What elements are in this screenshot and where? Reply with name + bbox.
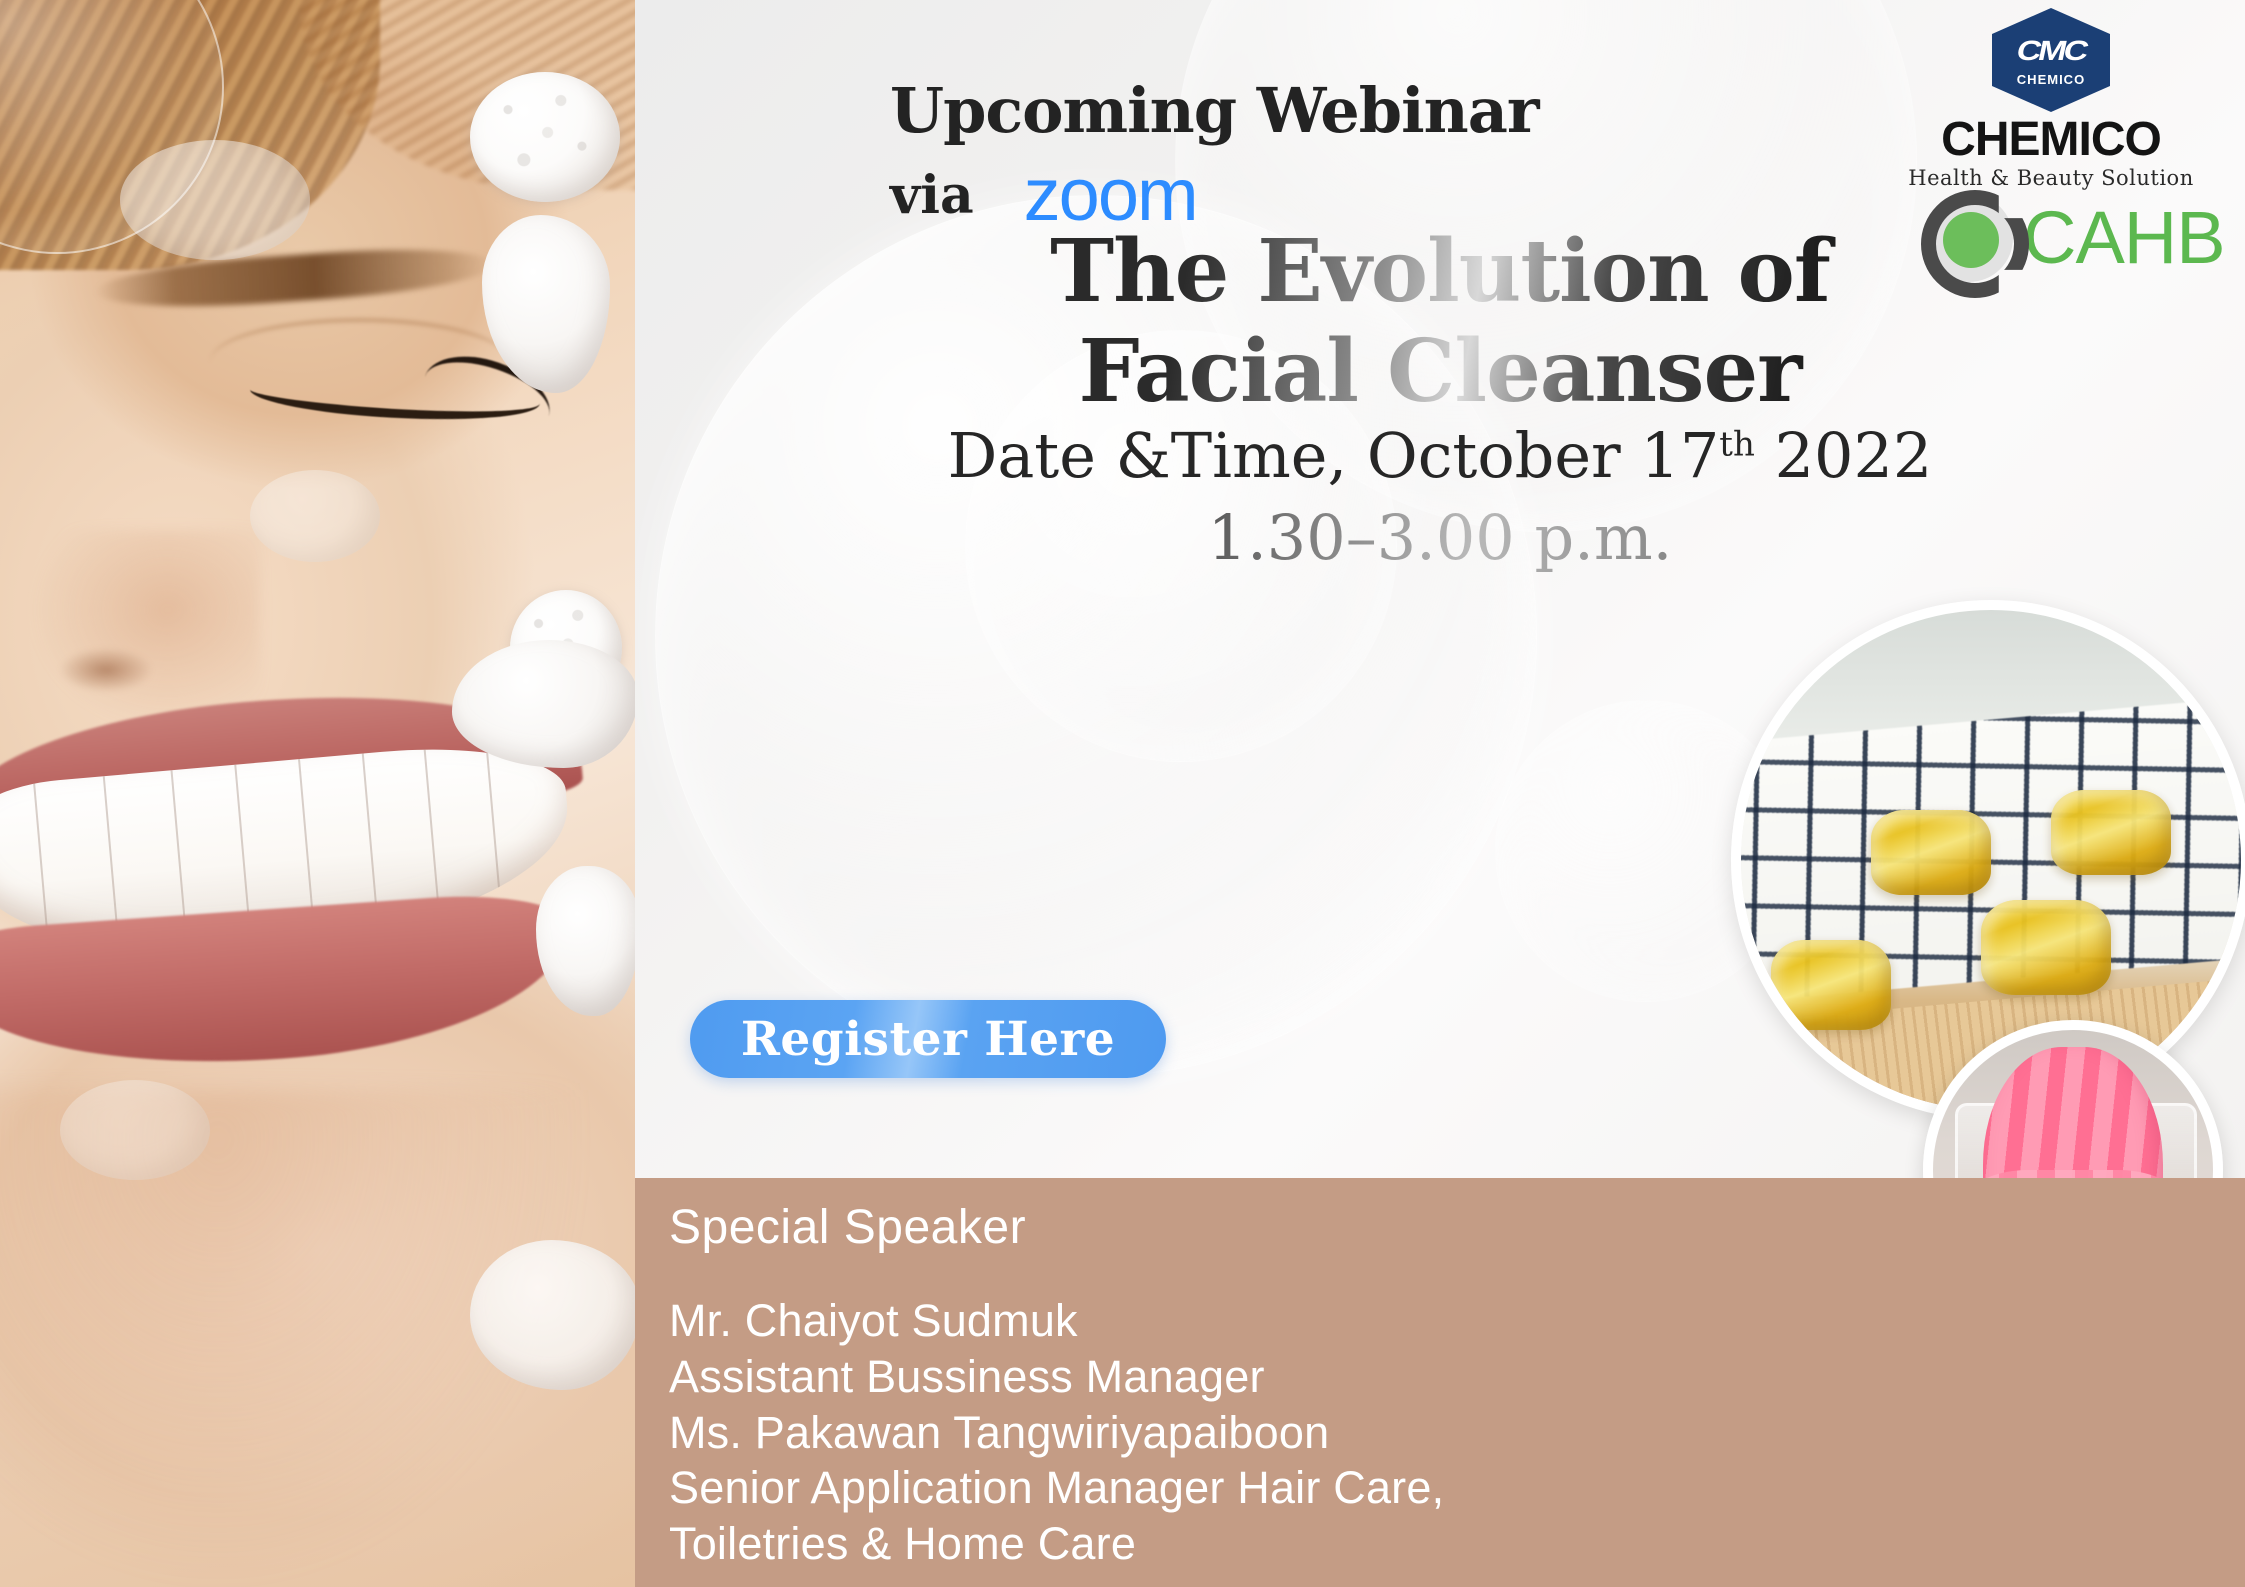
soap-bar — [1871, 810, 1991, 895]
soap-bar — [1771, 940, 1891, 1030]
chemico-hex-icon: CMC CHEMICO — [1992, 8, 2110, 112]
page-title: The Evolution of Facial Cleanser — [635, 222, 2245, 422]
date-line: Date &Time, October 17th 2022 — [635, 415, 2245, 497]
soap-bar — [1981, 900, 2111, 995]
upcoming-webinar-label: Upcoming Webinar — [890, 78, 1539, 143]
chemico-logo: CMC CHEMICO CHEMICO Health & Beauty Solu… — [1901, 8, 2201, 190]
foam-patch — [250, 470, 380, 562]
date-time-block: Date &Time, October 17th 2022 1.30–3.00 … — [635, 415, 2245, 579]
register-button[interactable]: Register Here — [690, 1000, 1166, 1078]
portrait-photo — [0, 0, 635, 1587]
chemico-hex-initials: CMC — [2014, 37, 2088, 65]
content-panel: CMC CHEMICO CHEMICO Health & Beauty Solu… — [635, 0, 2245, 1587]
chemico-wordmark: CHEMICO — [1901, 116, 2201, 164]
foam-patch — [470, 72, 620, 202]
soap-bar — [2051, 790, 2171, 875]
nostril — [60, 648, 152, 692]
webinar-poster: CMC CHEMICO CHEMICO Health & Beauty Solu… — [0, 0, 2245, 1587]
foam-patch — [60, 1080, 210, 1180]
time-line: 1.30–3.00 p.m. — [635, 497, 2245, 579]
speaker-section: Special Speaker Mr. Chaiyot Sudmuk Assis… — [635, 1178, 2245, 1587]
speaker-section-title: Special Speaker — [669, 1200, 1026, 1255]
date-prefix: Date &Time, October 17 — [948, 419, 1720, 492]
chemico-hex-name: CHEMICO — [2017, 72, 2085, 87]
closed-eye — [250, 355, 540, 415]
date-ordinal: th — [1719, 424, 1755, 464]
date-year: 2022 — [1755, 419, 1933, 492]
via-label: via — [890, 165, 974, 226]
chemico-tagline: Health & Beauty Solution — [1901, 166, 2201, 190]
speaker-details: Mr. Chaiyot Sudmuk Assistant Bussiness M… — [669, 1293, 1444, 1572]
product-photo-soap — [1731, 600, 2245, 1120]
